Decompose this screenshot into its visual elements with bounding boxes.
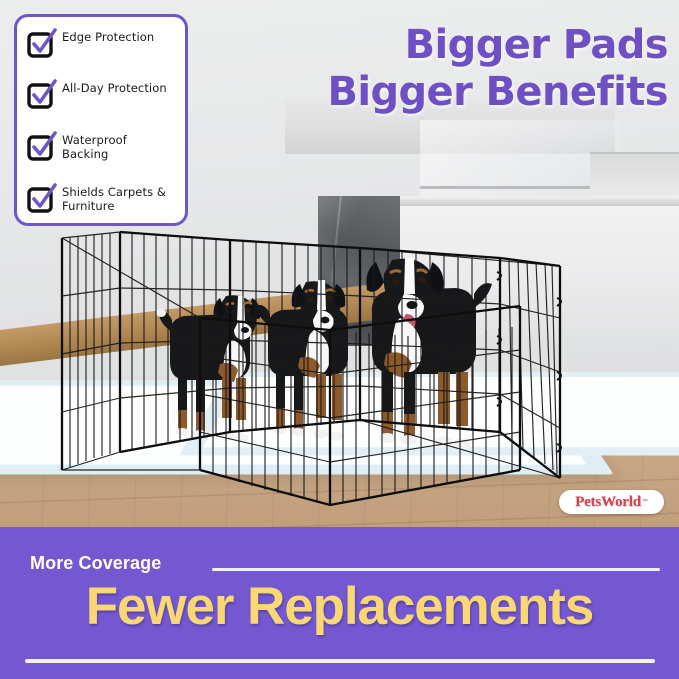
headline-line-2: Bigger Benefits (300, 69, 668, 116)
checkbox-checked-icon (27, 82, 53, 108)
feature-item-all-day-protection: All-Day Protection (27, 80, 177, 108)
brand-logo: PetsWorld™ (559, 490, 664, 514)
feature-item-label: Edge Protection (62, 29, 154, 44)
feature-item-label: Waterproof Backing (62, 132, 177, 161)
product-marketing-image: Edge Protection All-Day Protection Water… (0, 0, 679, 679)
headline-line-1: Bigger Pads (405, 22, 668, 68)
checkbox-checked-icon (27, 134, 53, 160)
brand-logo-text: PetsWorld (575, 494, 641, 511)
checkbox-checked-icon (27, 31, 53, 57)
banner-rule-bottom (25, 659, 655, 663)
banner-headline: Fewer Replacements (0, 578, 679, 636)
dog-right (352, 250, 512, 470)
banner-rule-top (212, 568, 660, 571)
trademark-symbol: ™ (642, 499, 648, 505)
headline: Bigger Pads Bigger Benefits (300, 22, 668, 116)
checkbox-checked-icon (27, 186, 53, 212)
feature-item-waterproof-backing: Waterproof Backing (27, 132, 177, 161)
feature-item-edge-protection: Edge Protection (27, 29, 177, 57)
banner-kicker: More Coverage (30, 553, 161, 574)
feature-item-shields-carpets-furniture: Shields Carpets & Furniture (27, 184, 177, 213)
feature-item-label: All-Day Protection (62, 80, 167, 95)
feature-item-label: Shields Carpets & Furniture (62, 184, 177, 213)
feature-checklist-card: Edge Protection All-Day Protection Water… (14, 14, 188, 226)
